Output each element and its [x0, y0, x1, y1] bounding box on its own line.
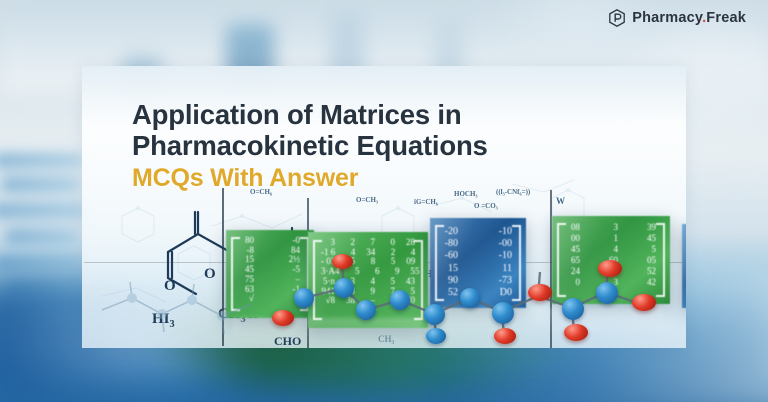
hexagon-p-icon: [609, 9, 625, 27]
atom-red: [494, 328, 516, 344]
atom-red: [528, 284, 552, 301]
atom-blue: [390, 290, 410, 310]
atom-blue: [294, 288, 314, 308]
atom-red: [564, 324, 588, 341]
page-subtitle: MCQs With Answer: [132, 164, 672, 193]
content-card: O OH3 O CH3 HI3 HCH2 H CHO CH3 O– CO HF …: [82, 66, 686, 348]
atom-blue: [426, 328, 446, 344]
atom-red: [272, 310, 294, 326]
atom-red: [332, 254, 353, 269]
atom-blue: [424, 304, 445, 325]
foreground-molecule-ghost: [92, 280, 272, 346]
atom-blue: [334, 278, 354, 298]
atom-blue: [492, 302, 514, 324]
tiny-formula-2: iG=CH₆: [414, 198, 438, 206]
atom-blue: [460, 288, 480, 308]
featured-image-canvas: Pharmacy.Freak: [0, 0, 768, 402]
atom-blue: [356, 300, 376, 320]
tiny-formula-5: O =CO₃: [474, 202, 498, 210]
page-title-line-2: Pharmacokinetic Equations: [132, 130, 672, 161]
atom-blue: [562, 298, 584, 320]
brand-name: Pharmacy.Freak: [632, 10, 746, 26]
tiny-formula-1: O=CH₃: [356, 196, 378, 204]
tiny-formula-6: W: [556, 196, 565, 206]
headline-block: Application of Matrices in Pharmacokinet…: [132, 99, 672, 193]
atom-red: [632, 294, 656, 311]
page-title-line-1: Application of Matrices in: [132, 99, 672, 130]
atom-blue: [596, 282, 618, 304]
brand-logo[interactable]: Pharmacy.Freak: [609, 9, 746, 27]
atom-red: [598, 260, 622, 277]
molecular-model-atoms: [288, 252, 686, 348]
